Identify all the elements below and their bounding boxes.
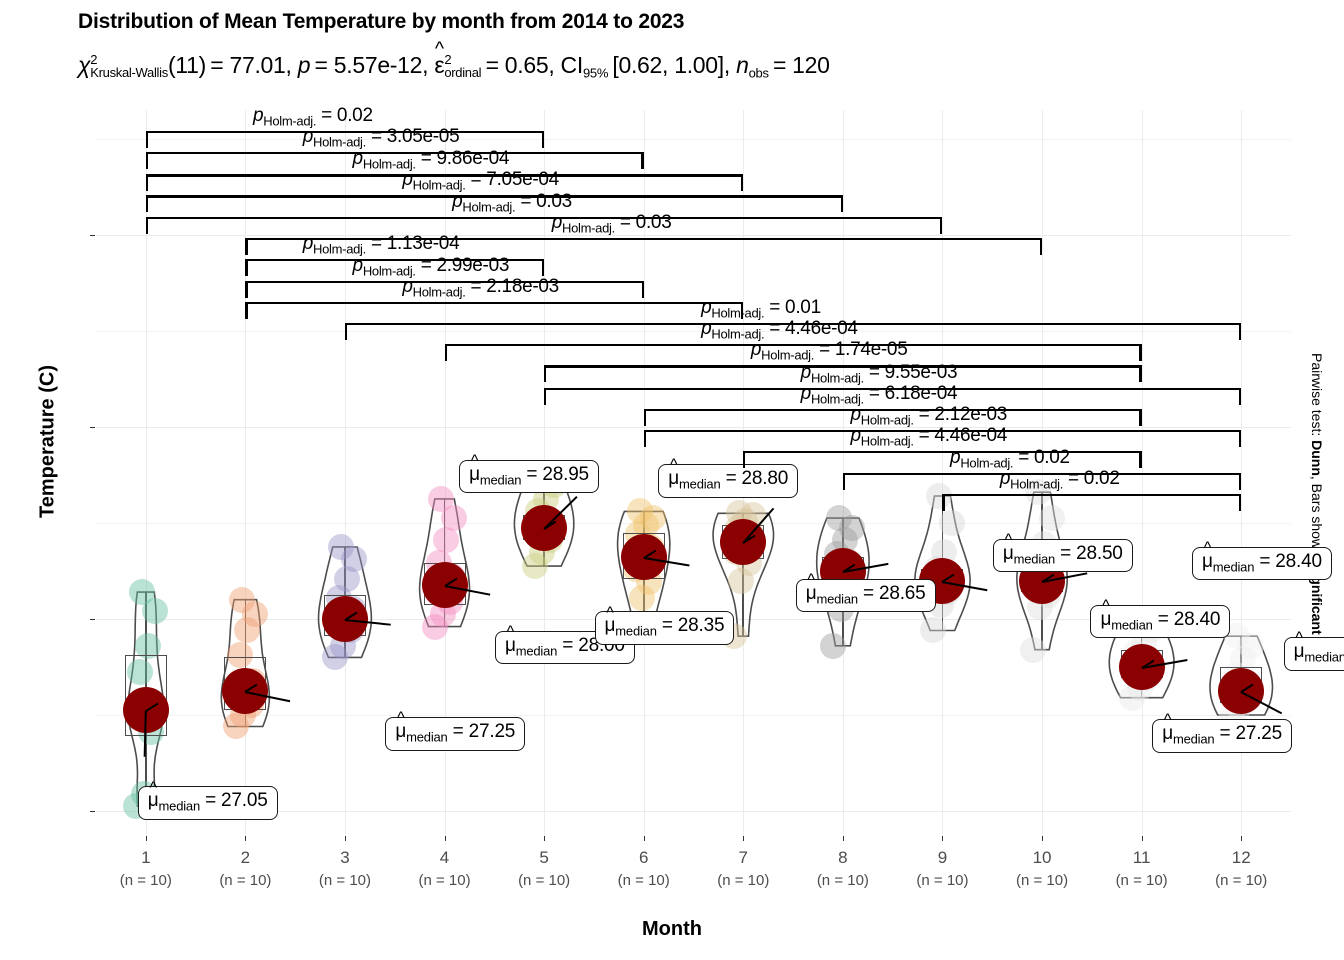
chi-value: = 77.01, [210, 52, 291, 78]
x-axis-tick-mark [345, 836, 346, 841]
median-value: = 28.65 [863, 583, 926, 604]
median-value: = 27.25 [1219, 723, 1282, 744]
median-sub-label: median [159, 799, 200, 814]
median-sub-label: median [480, 472, 521, 487]
p-adjusted-value: = 0.02 [1068, 468, 1120, 489]
median-value: = 27.05 [205, 790, 268, 811]
y-axis-tick-mark [90, 811, 95, 812]
p-symbol: p [701, 297, 711, 318]
bracket-cap-left [644, 409, 646, 426]
p-adjusted-value: = 0.02 [1018, 447, 1070, 468]
bracket-cap-left [146, 152, 148, 169]
pairwise-p-label: pHolm-adj. = 1.74e-05 [751, 339, 908, 363]
p-adjusted-value: = 1.13e-04 [371, 233, 459, 254]
bracket-cap-right [1239, 323, 1241, 340]
p-symbol: p [253, 105, 263, 126]
significance-bracket [743, 451, 1141, 468]
hat-accent: ^ [1294, 629, 1305, 648]
hat-accent: ^ [469, 452, 480, 471]
median-sub-label: median [816, 591, 857, 606]
p-symbol: p [402, 276, 412, 297]
median-label: ^μmedian = 28.65 [796, 579, 936, 613]
hat-accent: ^ [668, 456, 679, 475]
hat-accent: ^ [395, 709, 406, 728]
y-axis-tick-mark [90, 427, 95, 428]
pairwise-p-label: pHolm-adj. = 0.02 [950, 447, 1070, 471]
median-label: ^μmedian = 27.05 [138, 786, 278, 820]
pairwise-p-label: pHolm-adj. = 6.18e-04 [801, 383, 958, 407]
bracket-cap-left [146, 217, 148, 234]
x-tick-month: 8 [838, 848, 847, 867]
p-adjusted-value: = 9.86e-04 [421, 148, 509, 169]
median-value: = 28.95 [526, 464, 589, 485]
x-axis-tick-mark [1042, 836, 1043, 841]
p-adjusted-value: = 0.01 [769, 297, 821, 318]
x-tick-month: 9 [938, 848, 947, 867]
plot-panel: 323028261(n = 10)2(n = 10)3(n = 10)4(n =… [96, 110, 1291, 835]
median-sub-label: median [1173, 732, 1214, 747]
pairwise-p-label: pHolm-adj. = 0.02 [1000, 468, 1120, 492]
median-value: = 27.25 [453, 721, 516, 742]
pairwise-p-label: pHolm-adj. = 2.99e-03 [353, 255, 510, 279]
median-label: ^μmedian = 28.95 [459, 460, 599, 494]
pairwise-p-label: pHolm-adj. = 0.03 [552, 212, 672, 236]
median-sub-label: median [1111, 617, 1152, 632]
caption-test: Dunn [1309, 440, 1325, 476]
p-symbol: p [701, 318, 711, 339]
x-tick-n: (n = 10) [916, 872, 968, 889]
p-symbol: p [353, 255, 363, 276]
hat-accent: ^ [806, 571, 817, 590]
bracket-cap-left [644, 430, 646, 447]
x-tick-month: 6 [639, 848, 648, 867]
median-label: ^μmedian = 28.80 [658, 464, 798, 498]
p-adjusted-value: = 0.03 [620, 212, 672, 233]
x-tick-month: 1 [141, 848, 150, 867]
bracket-cap-right [542, 131, 544, 148]
median-sub-label: median [1304, 650, 1344, 665]
x-tick-month: 7 [739, 848, 748, 867]
median-label: ^μmedian = 28.40 [1090, 605, 1230, 639]
p-symbol: p [801, 383, 811, 404]
x-axis-tick-mark [1142, 836, 1143, 841]
pairwise-p-label: pHolm-adj. = 4.46e-04 [850, 425, 1007, 449]
median-label: ^μmedian = 28.50 [993, 539, 1133, 573]
p-adjusted-value: = 0.03 [520, 191, 572, 212]
median-value: = 28.80 [726, 468, 789, 489]
bracket-cap-right [642, 281, 644, 298]
bracket-cap-right [841, 195, 843, 212]
bracket-cap-right [1239, 473, 1241, 490]
p-adjusted-value: = 4.46e-04 [919, 425, 1007, 446]
significance-bracket [146, 217, 943, 234]
bracket-cap-right [1239, 388, 1241, 405]
eps-sub-label: ordinal [444, 65, 481, 80]
p-symbol: p [850, 404, 860, 425]
x-tick-month: 2 [241, 848, 250, 867]
bracket-cap-left [544, 365, 546, 382]
ci-level: 95% [583, 66, 608, 81]
p-adjusted-value: = 3.05e-05 [371, 126, 459, 147]
x-tick-n: (n = 10) [418, 872, 470, 889]
pairwise-p-label: pHolm-adj. = 2.12e-03 [850, 404, 1007, 428]
pairwise-p-label: pHolm-adj. = 9.86e-04 [353, 148, 510, 172]
y-axis-tick-mark [90, 235, 95, 236]
bracket-bar [942, 494, 1241, 496]
p-adjusted-value: = 9.55e-03 [869, 362, 957, 383]
chi-test-label: Kruskal-Wallis [90, 65, 168, 80]
n-value: = 120 [773, 52, 830, 78]
pairwise-p-label: pHolm-adj. = 7.05e-04 [402, 169, 559, 193]
ci-value: [0.62, 1.00], [612, 52, 730, 78]
bracket-cap-left [245, 302, 247, 319]
x-tick-month: 10 [1033, 848, 1052, 867]
median-sub-label: median [679, 477, 720, 492]
p-value: = 5.57e-12, [315, 52, 429, 78]
median-sub-label: median [1014, 551, 1055, 566]
median-value: = 28.40 [1158, 609, 1221, 630]
bracket-cap-left [445, 344, 447, 361]
bracket-cap-right [1239, 430, 1241, 447]
median-label: ^μmedian = 27.25 [385, 717, 525, 751]
median-label: ^μmedian = 27.50 [1284, 637, 1344, 671]
x-tick-n: (n = 10) [120, 872, 172, 889]
hat-accent: ^ [505, 623, 516, 642]
p-adjusted-value: = 4.46e-04 [769, 318, 857, 339]
x-tick-n: (n = 10) [1215, 872, 1267, 889]
bracket-cap-left [146, 174, 148, 191]
bracket-cap-right [641, 152, 643, 169]
median-sub-label: median [516, 643, 557, 658]
x-axis-title: Month [0, 918, 1344, 941]
x-tick-n: (n = 10) [518, 872, 570, 889]
x-axis-tick-mark [445, 836, 446, 841]
median-value: = 28.35 [662, 615, 725, 636]
median-value: = 28.50 [1060, 543, 1123, 564]
n-sub-label: obs [749, 66, 769, 81]
x-tick-month: 5 [539, 848, 548, 867]
p-sub-label: Holm-adj. [861, 433, 914, 448]
p-adjusted-value: = 2.12e-03 [919, 404, 1007, 425]
pairwise-p-label: pHolm-adj. = 0.02 [253, 105, 373, 129]
x-axis-tick-mark [644, 836, 645, 841]
p-sub-label: Holm-adj. [562, 220, 615, 235]
median-sub-label: median [615, 624, 656, 639]
bracket-cap-left [843, 473, 845, 490]
p-adjusted-value: = 0.02 [321, 105, 373, 126]
bracket-cap-left [245, 281, 247, 298]
x-tick-month: 3 [340, 848, 349, 867]
x-tick-month: 11 [1133, 848, 1151, 867]
x-tick-n: (n = 10) [717, 872, 769, 889]
caption-pre: Pairwise test: [1309, 353, 1325, 440]
x-axis-tick-mark [544, 836, 545, 841]
x-tick-n: (n = 10) [319, 872, 371, 889]
pairwise-p-label: pHolm-adj. = 0.03 [452, 191, 572, 215]
p-symbol: p [353, 148, 363, 169]
significance-bracket [942, 494, 1241, 511]
bracket-cap-left [544, 388, 546, 405]
hat-accent: ^ [1100, 597, 1111, 616]
x-tick-month: 12 [1232, 848, 1251, 867]
bracket-cap-right [1040, 238, 1042, 255]
p-symbol: p [801, 362, 811, 383]
bracket-cap-left [245, 259, 247, 276]
p-sub-label: Holm-adj. [413, 285, 466, 300]
bracket-cap-left [146, 131, 148, 148]
p-symbol: p [303, 126, 313, 147]
x-tick-n: (n = 10) [817, 872, 869, 889]
p-symbol: p [452, 191, 462, 212]
x-axis-tick-mark [1241, 836, 1242, 841]
bracket-cap-right [741, 174, 743, 191]
p-adjusted-value: = 1.74e-05 [819, 339, 907, 360]
hat-accent: ^ [434, 38, 444, 61]
bracket-cap-right [542, 259, 544, 276]
p-sub-label: Holm-adj. [1010, 477, 1063, 492]
pairwise-p-label: pHolm-adj. = 0.01 [701, 297, 821, 321]
x-tick-n: (n = 10) [1016, 872, 1068, 889]
y-axis-title: Temperature (C) [37, 342, 60, 542]
bracket-cap-left [146, 195, 148, 212]
x-tick-n: (n = 10) [219, 872, 271, 889]
p-adjusted-value: = 2.99e-03 [421, 255, 509, 276]
p-symbol: p [950, 447, 960, 468]
p-symbol: p [402, 169, 412, 190]
bracket-bar [743, 451, 1141, 453]
chi-df: (11) [168, 52, 206, 78]
bracket-cap-left [743, 451, 745, 468]
significance-bracket [245, 302, 743, 319]
x-axis-tick-mark [843, 836, 844, 841]
bracket-cap-right [1139, 344, 1141, 361]
p-sub-label: Holm-adj. [462, 199, 515, 214]
p-adjusted-value: = 2.18e-03 [471, 276, 559, 297]
p-symbol: p [751, 339, 761, 360]
hat-accent: ^ [1202, 539, 1213, 558]
pairwise-p-label: pHolm-adj. = 1.13e-04 [303, 233, 460, 257]
page-title: Distribution of Mean Temperature by mont… [78, 10, 684, 34]
x-axis-tick-label: 12(n = 10) [1181, 847, 1301, 892]
y-axis-tick-mark [90, 619, 95, 620]
median-label: ^μmedian = 28.35 [595, 611, 735, 645]
x-axis-tick-mark [942, 836, 943, 841]
pairwise-p-label: pHolm-adj. = 9.55e-03 [801, 362, 958, 386]
hat-accent: ^ [1003, 531, 1014, 550]
bracket-bar [146, 217, 943, 219]
bracket-cap-right [1139, 365, 1141, 382]
p-symbol: p [303, 233, 313, 254]
pairwise-p-label: pHolm-adj. = 3.05e-05 [303, 126, 460, 150]
median-label: ^μmedian = 27.25 [1152, 719, 1292, 753]
bracket-cap-right [1139, 451, 1141, 468]
bracket-cap-right [940, 217, 942, 234]
pairwise-p-label: pHolm-adj. = 2.18e-03 [402, 276, 559, 300]
bracket-bar [245, 302, 743, 304]
median-value: = 28.40 [1259, 551, 1322, 572]
hat-accent: ^ [1162, 711, 1173, 730]
hat-accent: ^ [148, 779, 159, 798]
x-tick-n: (n = 10) [1116, 872, 1168, 889]
p-adjusted-value: = 6.18e-04 [869, 383, 957, 404]
x-axis-tick-mark [146, 836, 147, 841]
x-tick-month: 4 [440, 848, 449, 867]
bracket-cap-right [1139, 409, 1141, 426]
x-axis-tick-mark [743, 836, 744, 841]
pairwise-p-label: pHolm-adj. = 4.46e-04 [701, 318, 858, 342]
median-sub-label: median [1213, 559, 1254, 574]
hat-accent: ^ [605, 604, 616, 623]
bracket-cap-left [245, 238, 247, 255]
x-axis-tick-mark [245, 836, 246, 841]
p-adjusted-value: = 7.05e-04 [471, 169, 559, 190]
bracket-cap-left [942, 494, 944, 511]
median-label: ^μmedian = 28.40 [1192, 547, 1332, 581]
p-symbol: p [1000, 468, 1010, 489]
bracket-cap-right [1239, 494, 1241, 511]
bracket-cap-left [345, 323, 347, 340]
p-symbol: p [850, 425, 860, 446]
x-tick-n: (n = 10) [618, 872, 670, 889]
eps-value: = 0.65, [486, 52, 555, 78]
median-sub-label: median [406, 730, 447, 745]
statistical-subtitle: χ2Kruskal-Wallis(11) = 77.01, p = 5.57e-… [78, 52, 830, 81]
p-symbol: p [552, 212, 562, 233]
